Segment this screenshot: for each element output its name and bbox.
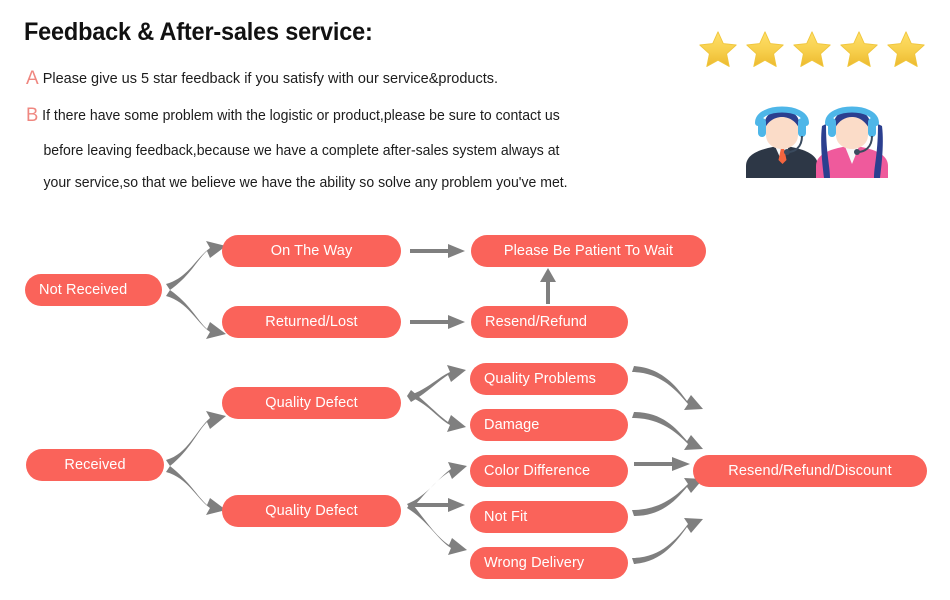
node-damage[interactable]: Damage bbox=[470, 409, 628, 441]
support-agents-svg bbox=[738, 92, 890, 178]
note-b-line-1: If there have some problem with the logi… bbox=[42, 108, 560, 124]
node-not-received[interactable]: Not Received bbox=[25, 274, 162, 306]
support-agents bbox=[738, 92, 890, 178]
star-rating bbox=[698, 28, 928, 70]
note-b: BIf there have some problem with the log… bbox=[26, 105, 584, 191]
star-icon-4 bbox=[841, 32, 877, 67]
node-quality-problems[interactable]: Quality Problems bbox=[470, 363, 628, 395]
star-icon-1 bbox=[700, 32, 736, 67]
node-received[interactable]: Received bbox=[26, 449, 164, 481]
note-a: APlease give us 5 star feedback if you s… bbox=[26, 68, 498, 90]
feedback-after-sales-infographic: Feedback & After-sales service: APlease … bbox=[0, 0, 950, 600]
node-resend-refund-discount[interactable]: Resend/Refund/Discount bbox=[693, 455, 927, 487]
node-returned-lost[interactable]: Returned/Lost bbox=[222, 306, 401, 338]
node-quality-defect-top[interactable]: Quality Defect bbox=[222, 387, 401, 419]
star-rating-svg bbox=[698, 28, 928, 70]
note-a-text: Please give us 5 star feedback if you sa… bbox=[43, 71, 498, 87]
star-icon-2 bbox=[747, 32, 783, 67]
returns-flowchart: Not Received On The Way Returned/Lost Pl… bbox=[0, 210, 950, 600]
star-icon-3 bbox=[794, 32, 830, 67]
node-on-the-way[interactable]: On The Way bbox=[222, 235, 401, 267]
node-resend-refund[interactable]: Resend/Refund bbox=[471, 306, 628, 338]
node-please-be-patient-to-wait[interactable]: Please Be Patient To Wait bbox=[471, 235, 706, 267]
node-quality-defect-bottom[interactable]: Quality Defect bbox=[222, 495, 401, 527]
node-wrong-delivery[interactable]: Wrong Delivery bbox=[470, 547, 628, 579]
flowchart-arrows bbox=[0, 210, 950, 600]
node-color-difference[interactable]: Color Difference bbox=[470, 455, 628, 487]
support-agent-male-avatar bbox=[746, 110, 818, 179]
page-title: Feedback & After-sales service: bbox=[24, 18, 373, 47]
note-b-line-3: your service,so that we believe we have … bbox=[26, 175, 568, 191]
note-b-line-2: before leaving feedback,because we have … bbox=[26, 143, 568, 159]
support-agent-female-avatar bbox=[816, 110, 888, 179]
node-not-fit[interactable]: Not Fit bbox=[470, 501, 628, 533]
note-b-marker: B bbox=[26, 105, 38, 127]
star-icon-5 bbox=[888, 32, 924, 67]
note-a-marker: A bbox=[26, 68, 39, 90]
